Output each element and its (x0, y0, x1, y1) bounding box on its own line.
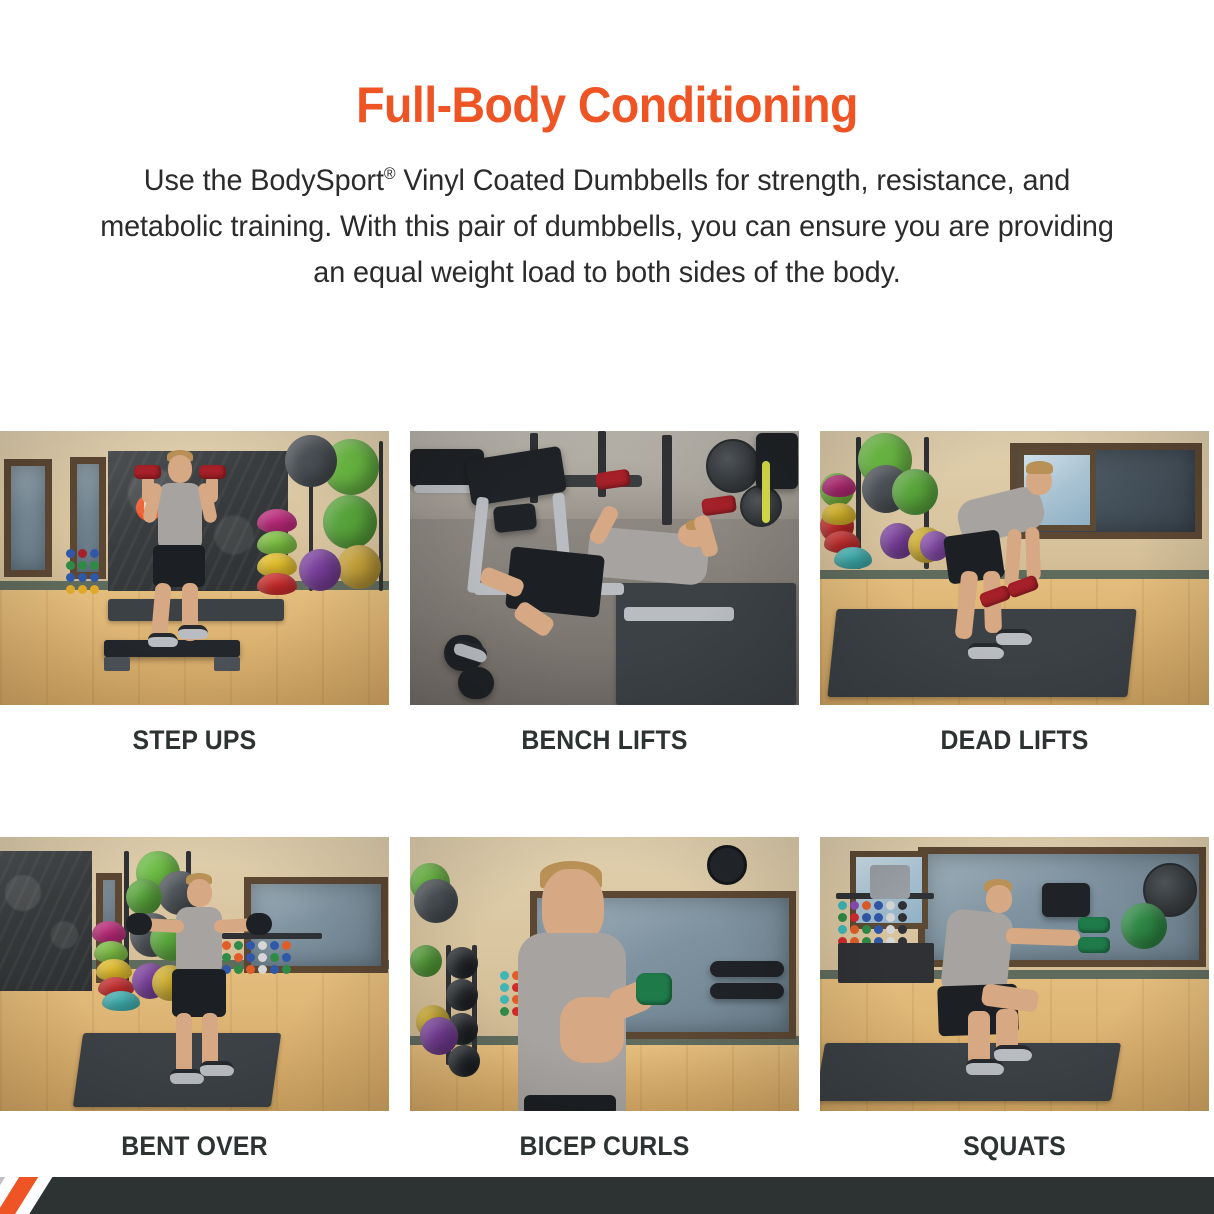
exercise-caption-bench-lifts: BENCH LIFTS (426, 725, 784, 756)
exercise-photo-dead-lifts (820, 431, 1209, 705)
infographic-page: Full-Body Conditioning Use the BodySport… (0, 0, 1214, 1214)
exercise-caption-bicep-curls: BICEP CURLS (426, 1131, 784, 1162)
exercise-grid: B (0, 431, 1214, 1162)
exercise-tile-dead-lifts: DEAD LIFTS (820, 431, 1209, 756)
footer-bar (0, 1177, 1214, 1214)
exercise-tile-bench-lifts: BENCH LIFTS (410, 431, 799, 756)
exercise-tile-squats: SQUATS (820, 837, 1209, 1162)
intro-text-prefix: Use the BodySport (144, 164, 384, 197)
exercise-tile-bent-over: BENT OVER (0, 837, 389, 1162)
exercise-photo-bicep-curls (410, 837, 799, 1111)
exercise-caption-dead-lifts: DEAD LIFTS (836, 725, 1194, 756)
header: Full-Body Conditioning Use the BodySport… (0, 0, 1214, 296)
exercise-photo-step-ups: B (0, 431, 389, 705)
intro-paragraph: Use the BodySport® Vinyl Coated Dumbbell… (98, 158, 1116, 296)
exercise-tile-bicep-curls: BICEP CURLS (410, 837, 799, 1162)
exercise-caption-squats: SQUATS (836, 1131, 1194, 1162)
registered-trademark-icon: ® (384, 165, 396, 183)
exercise-caption-bent-over: BENT OVER (16, 1131, 374, 1162)
exercise-photo-bent-over (0, 837, 389, 1111)
exercise-photo-squats (820, 837, 1209, 1111)
exercise-tile-step-ups: B (0, 431, 389, 756)
exercise-photo-bench-lifts (410, 431, 799, 705)
page-title: Full-Body Conditioning (42, 78, 1171, 132)
exercise-caption-step-ups: STEP UPS (16, 725, 374, 756)
